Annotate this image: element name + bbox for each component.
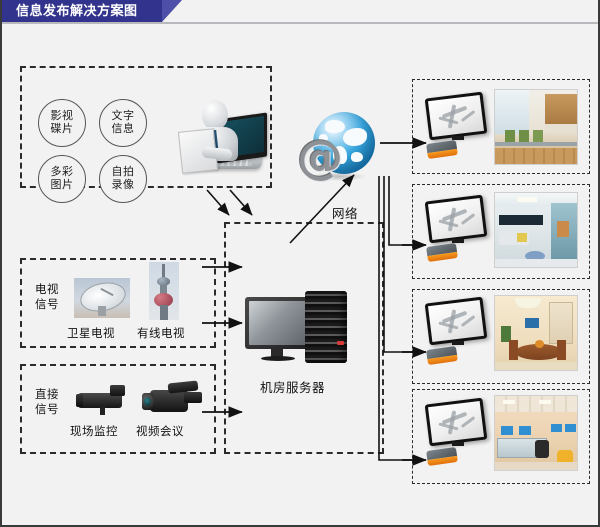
camcorder-body (150, 390, 188, 412)
kitchen-counter (545, 124, 578, 132)
modern-living-room-photo (494, 192, 578, 268)
circle-line1: 自拍 (112, 166, 135, 179)
tv-frame (425, 297, 488, 346)
banner-underline (2, 22, 600, 24)
floor (495, 462, 578, 471)
tv-splash-graphic (448, 309, 457, 333)
network-label: 网络 (332, 207, 358, 222)
wall-tv (525, 318, 539, 328)
ceiling-light (517, 197, 537, 202)
cable-tv-label: 有线电视 (137, 327, 185, 342)
tv-splash-graphic (448, 207, 457, 231)
tv-frame (425, 195, 488, 244)
globe-at-icon: @ (297, 110, 377, 190)
tv-screen (428, 300, 484, 342)
tv-stand-3 (452, 341, 464, 345)
camcorder-icon (142, 378, 204, 418)
monitor (551, 424, 562, 432)
direct-signal-label-line2: 信号 (30, 403, 64, 418)
wood-floor (495, 148, 578, 165)
circle-line2: 录像 (112, 179, 135, 192)
video-conference-label: 视频会议 (136, 425, 184, 440)
dish-mount (98, 306, 106, 316)
content-circle-text-info: 文字 信息 (99, 99, 147, 147)
railing (495, 142, 578, 146)
cushion (517, 233, 527, 242)
arrow-content-to-server-a (207, 190, 229, 215)
flatscreen-tv-icon-3 (425, 297, 488, 346)
camcorder-viewfinder (184, 392, 202, 403)
chair (509, 340, 518, 360)
office-chair (535, 440, 549, 458)
monitor (501, 426, 513, 435)
tv-splash-graphic (448, 104, 457, 128)
circle-line2: 图片 (51, 179, 74, 192)
flatscreen-tv-icon-1 (425, 92, 488, 141)
satellite-dish-icon (74, 278, 130, 318)
tv-stand-4 (452, 442, 464, 446)
server-label: 机房服务器 (260, 381, 325, 396)
tv-screen (428, 95, 484, 137)
at-symbol-icon: @ (297, 134, 343, 180)
tower-base (160, 305, 168, 320)
floor (495, 362, 578, 371)
server-monitor (245, 297, 311, 349)
warm-dining-room-photo (494, 295, 578, 371)
tv-frame (425, 398, 488, 447)
tv-splash-graphic (461, 213, 476, 225)
monitor (519, 426, 531, 435)
fruit-bowl (535, 340, 544, 348)
kitchen-cabinets (545, 94, 578, 124)
arrow-content-to-server-b (230, 190, 252, 215)
circle-line2: 碟片 (51, 123, 74, 136)
tv-signal-label-line2: 信号 (30, 298, 64, 313)
tv-splash-graphic (461, 110, 476, 122)
floor (495, 259, 578, 268)
circle-line2: 信息 (112, 123, 135, 136)
person-with-laptop-icon (172, 100, 267, 185)
person-head (202, 100, 228, 130)
ceiling-tiles (495, 396, 578, 412)
surveillance-camera-icon (76, 382, 136, 416)
circle-line1: 多彩 (51, 166, 74, 179)
diagram-page: 信息发布解决方案图 影视 碟片 文字 信息 多彩 图片 自拍 录像 (0, 0, 600, 527)
content-circle-video-disc: 影视 碟片 (38, 99, 86, 147)
camera-lens (76, 394, 83, 407)
wall-art (557, 221, 569, 237)
tv-splash-graphic (448, 410, 457, 434)
tv-signal-label: 电视 信号 (30, 283, 64, 313)
server-computer-icon (245, 291, 349, 369)
direct-signal-label-line1: 直接 (30, 388, 64, 403)
globe-landmass (351, 152, 363, 162)
monitor-base (261, 356, 295, 361)
camcorder-lens-glass (144, 397, 151, 406)
tv-splash-graphic (461, 416, 476, 428)
tv-tower-icon (149, 262, 179, 320)
tv-frame (425, 92, 488, 141)
satellite-tv-label: 卫星电视 (67, 327, 115, 342)
tv-screen (428, 401, 484, 443)
camera-mount-head (110, 385, 125, 396)
camera-bracket (100, 406, 105, 415)
ceiling-light (539, 400, 551, 404)
window-area (495, 90, 529, 134)
direct-signal-label: 直接 信号 (30, 388, 64, 418)
globe-landmass (343, 128, 367, 146)
server-screen (249, 301, 307, 345)
ceiling-light (503, 400, 515, 404)
site-monitoring-label: 现场监控 (70, 425, 118, 440)
content-circle-self-recording: 自拍 录像 (99, 155, 147, 203)
circle-line1: 影视 (51, 110, 74, 123)
pendant-lamp (515, 298, 541, 308)
flatscreen-tv-icon-4 (425, 398, 488, 447)
monitor (565, 424, 576, 432)
door (549, 302, 573, 344)
office-workstations-photo (494, 395, 578, 471)
tv-screen (428, 198, 484, 240)
tv-signal-label-line1: 电视 (30, 283, 64, 298)
tv-splash-graphic (461, 315, 476, 327)
circle-line1: 文字 (112, 110, 135, 123)
dark-cabinet (499, 215, 543, 225)
title-banner: 信息发布解决方案图 (2, 0, 162, 22)
server-tower (305, 291, 347, 363)
banner-tail-decoration (162, 0, 182, 22)
flatscreen-tv-icon-2 (425, 195, 488, 244)
page-title: 信息发布解决方案图 (16, 2, 138, 20)
kitchen-dining-room-photo (494, 89, 578, 165)
server-power-led (337, 341, 344, 345)
chair (557, 340, 566, 360)
content-circle-colorful-pictures: 多彩 图片 (38, 155, 86, 203)
